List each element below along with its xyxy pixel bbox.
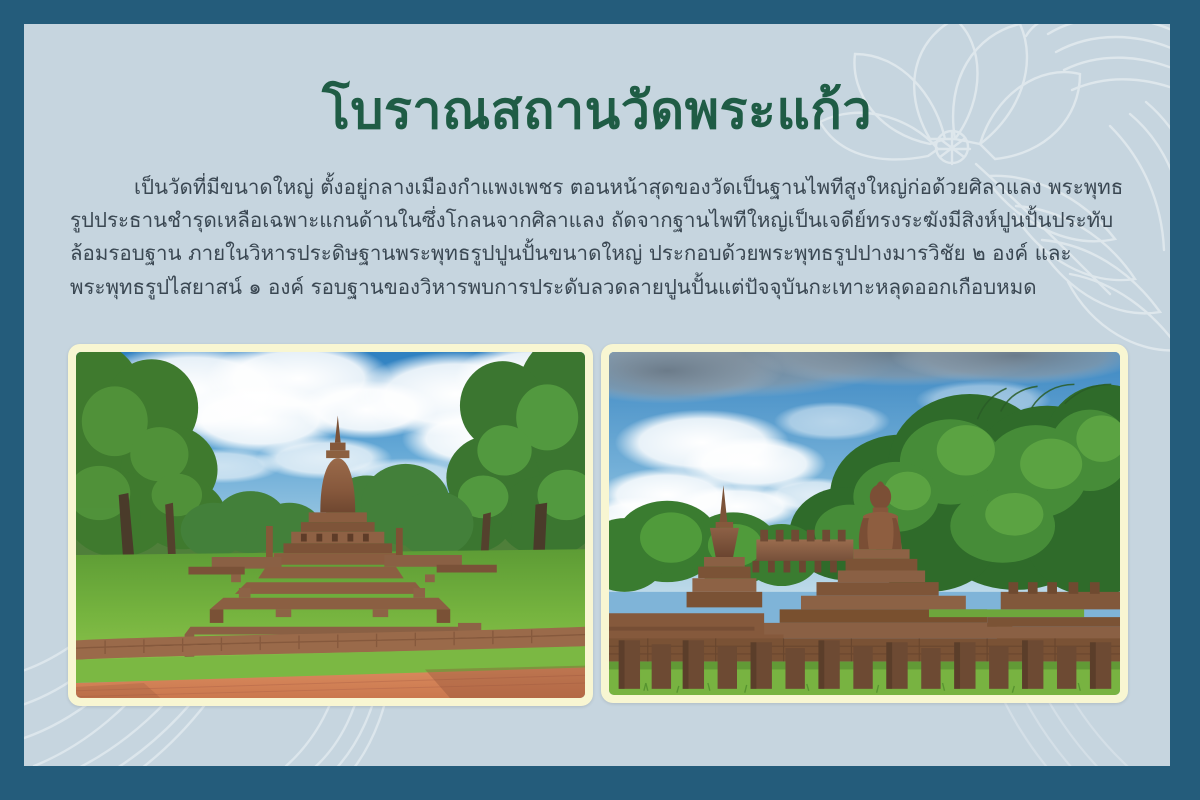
photo-buddha-ruins[interactable] <box>609 352 1120 695</box>
photo-frame-left[interactable] <box>68 344 593 706</box>
slide-inner-panel: โบราณสถานวัดพระแก้ว เป็นวัดที่มีขนาดใหญ่… <box>24 24 1170 766</box>
slide-root: โบราณสถานวัดพระแก้ว เป็นวัดที่มีขนาดใหญ่… <box>0 0 1200 800</box>
body-paragraph: เป็นวัดที่มีขนาดใหญ่ ตั้งอยู่กลางเมืองกำ… <box>70 171 1126 304</box>
photo-temple-wide[interactable] <box>76 352 585 698</box>
photo-gallery <box>68 344 1128 712</box>
page-title: โบราณสถานวัดพระแก้ว <box>24 80 1170 142</box>
photo-frame-right[interactable] <box>601 344 1128 703</box>
